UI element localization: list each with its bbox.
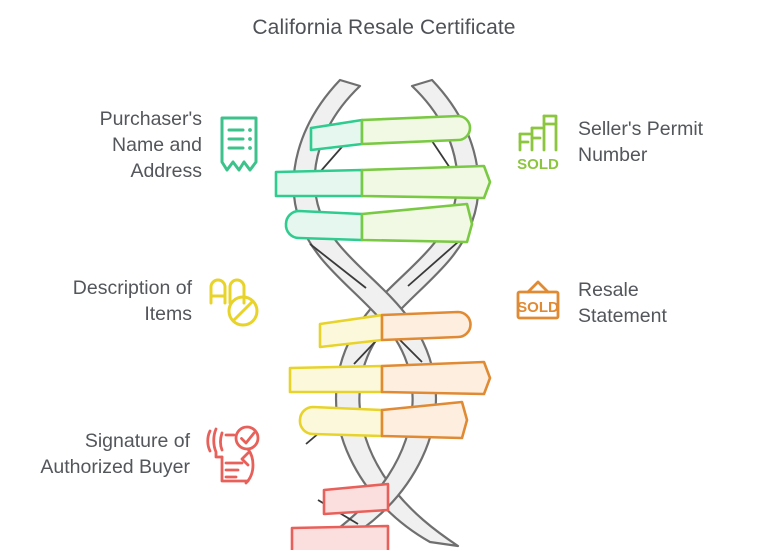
item-sellers-permit-number[interactable]: SOLD Seller's Permit Number — [512, 110, 768, 174]
receipt-icon — [216, 114, 262, 176]
infographic-page: California Resale Certificate — [0, 0, 768, 551]
item-resale-label: Resale Statement — [564, 277, 667, 329]
sold-buildings-icon: SOLD — [512, 110, 564, 174]
sold-sign-icon-text: SOLD — [517, 299, 559, 316]
sold-sign-icon: SOLD — [512, 278, 564, 328]
item-permit-label: Seller's Permit Number — [564, 116, 703, 168]
item-description-of-items[interactable]: Description of Items — [0, 273, 262, 329]
page-title: California Resale Certificate — [0, 16, 768, 40]
item-purchaser-name-address[interactable]: Purchaser's Name and Address — [0, 106, 262, 184]
item-resale-statement[interactable]: SOLD Resale Statement — [512, 277, 768, 329]
signed-document-hand-icon — [204, 423, 262, 485]
item-signature-authorized-buyer[interactable]: Signature of Authorized Buyer — [0, 423, 262, 485]
item-description-label: Description of Items — [73, 275, 206, 327]
dna-helix-diagram — [262, 72, 512, 550]
item-signature-label: Signature of Authorized Buyer — [40, 428, 204, 480]
item-purchaser-label: Purchaser's Name and Address — [100, 106, 216, 184]
no-ads-icon — [206, 273, 262, 329]
helix-rung-group-middle — [290, 312, 490, 438]
sold-buildings-icon-text: SOLD — [517, 156, 559, 173]
